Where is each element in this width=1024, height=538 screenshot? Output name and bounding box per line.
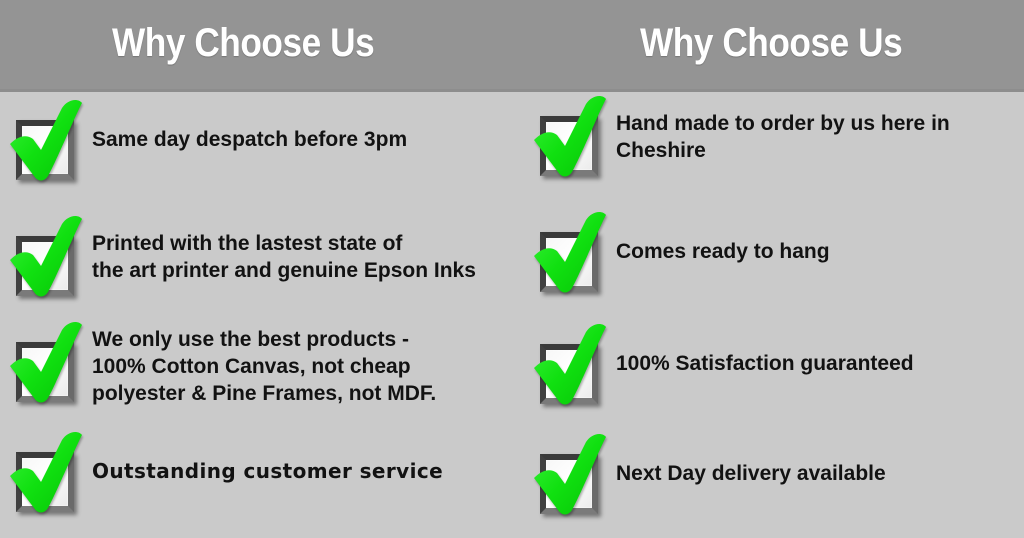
header-title-right: Why Choose Us bbox=[640, 20, 902, 66]
check-mark-icon bbox=[530, 96, 608, 178]
list-item-label: Outstanding customer service bbox=[84, 458, 443, 485]
header-title-left: Why Choose Us bbox=[112, 20, 374, 66]
list-item-label: Same day despatch before 3pm bbox=[84, 126, 407, 153]
list-item-label: We only use the best products - 100% Cot… bbox=[84, 326, 436, 407]
green-check-box-icon bbox=[6, 216, 84, 298]
right-feature-column: Hand made to order by us here in Cheshir… bbox=[512, 92, 1024, 538]
check-mark-icon bbox=[6, 100, 84, 182]
green-check-box-icon bbox=[530, 324, 608, 406]
list-item-label: Hand made to order by us here in Cheshir… bbox=[608, 110, 950, 164]
list-item-label: Comes ready to hang bbox=[608, 238, 830, 265]
left-feature-column: Same day despatch before 3pm Printed wit… bbox=[0, 92, 512, 538]
list-item-label: Printed with the lastest state of the ar… bbox=[84, 230, 476, 284]
header-band: Why Choose Us Why Choose Us bbox=[0, 0, 1024, 92]
green-check-box-icon bbox=[530, 96, 608, 178]
list-item: 100% Satisfaction guaranteed bbox=[530, 324, 914, 406]
green-check-box-icon bbox=[530, 212, 608, 294]
green-check-box-icon bbox=[530, 434, 608, 516]
check-mark-icon bbox=[6, 322, 84, 404]
green-check-box-icon bbox=[6, 100, 84, 182]
check-mark-icon bbox=[6, 432, 84, 514]
list-item: Same day despatch before 3pm bbox=[6, 100, 407, 182]
list-item: Next Day delivery available bbox=[530, 434, 886, 516]
list-item-label: Next Day delivery available bbox=[608, 460, 886, 487]
list-item: Comes ready to hang bbox=[530, 212, 830, 294]
list-item-label: 100% Satisfaction guaranteed bbox=[608, 350, 914, 377]
check-mark-icon bbox=[6, 216, 84, 298]
why-choose-us-banner: Why Choose Us Why Choose Us S bbox=[0, 0, 1024, 538]
list-item: We only use the best products - 100% Cot… bbox=[6, 322, 436, 407]
list-item: Hand made to order by us here in Cheshir… bbox=[530, 96, 950, 178]
green-check-box-icon bbox=[6, 432, 84, 514]
green-check-box-icon bbox=[6, 322, 84, 404]
list-item: Printed with the lastest state of the ar… bbox=[6, 216, 476, 298]
check-mark-icon bbox=[530, 212, 608, 294]
check-mark-icon bbox=[530, 434, 608, 516]
check-mark-icon bbox=[530, 324, 608, 406]
list-item: Outstanding customer service bbox=[6, 432, 443, 514]
